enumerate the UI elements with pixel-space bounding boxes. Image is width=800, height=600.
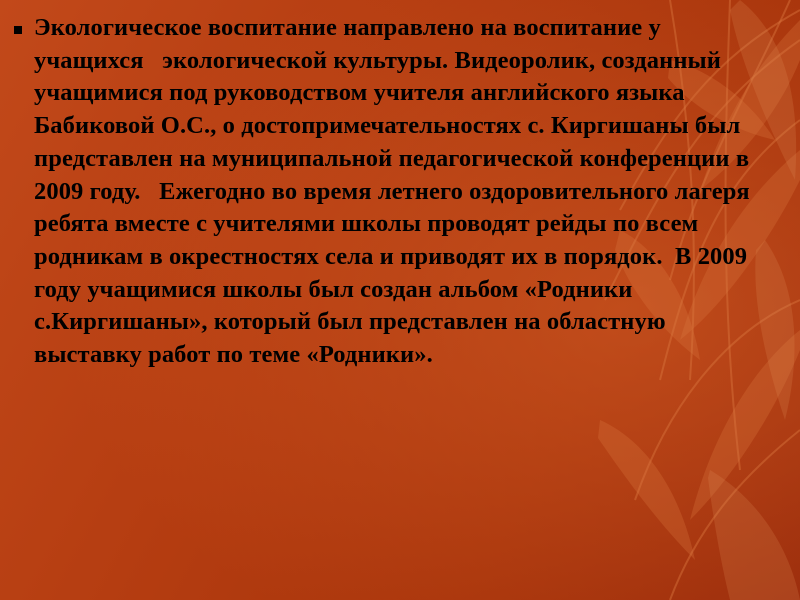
bullet-text: Экологическое воспитание направлено на в… bbox=[34, 12, 784, 372]
slide: Экологическое воспитание направлено на в… bbox=[0, 0, 800, 600]
slide-content: Экологическое воспитание направлено на в… bbox=[0, 0, 800, 600]
bullet-item: Экологическое воспитание направлено на в… bbox=[14, 12, 784, 372]
square-bullet-icon bbox=[14, 26, 22, 34]
